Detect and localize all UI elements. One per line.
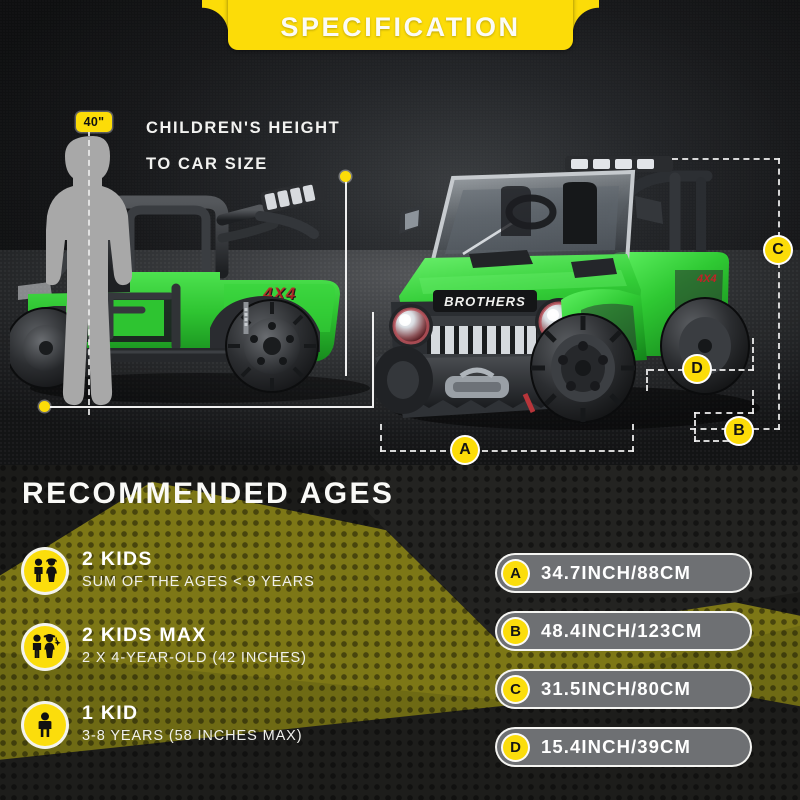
- age-row-subtitle: 3-8 YEARS (58 INCHES MAX): [82, 727, 302, 747]
- spec-section: 4X4 4X4: [0, 0, 800, 465]
- dimension-value-b: 48.4INCH/123CM: [541, 620, 702, 642]
- age-row-2-kids: 2 KIDS SUM OF THE AGES < 9 YEARS: [24, 549, 315, 592]
- caption-line-2: TO CAR SIZE: [146, 155, 268, 174]
- two-kids-max-icon: [24, 626, 66, 668]
- bracket-dot-bottom-left: [39, 401, 50, 412]
- dimension-value-d: 15.4INCH/39CM: [541, 736, 691, 758]
- age-row-subtitle: 2 X 4-YEAR-OLD (42 INCHES): [82, 649, 307, 669]
- callout-badge-b: B: [726, 418, 752, 444]
- dash-a-up-right: [632, 424, 634, 452]
- dash-a-up-left: [380, 424, 382, 452]
- dash-c-top: [672, 158, 780, 160]
- height-badge: 40": [76, 112, 112, 132]
- dash-a-left: [380, 450, 446, 452]
- svg-text:4X4: 4X4: [696, 273, 717, 285]
- dimension-pill-b: B 48.4INCH/123CM: [497, 613, 750, 649]
- banner-notch-left: [202, 0, 228, 34]
- dimension-badge-d: D: [503, 735, 528, 760]
- dash-d-right: [710, 369, 754, 371]
- bracket-dot-top: [340, 171, 351, 182]
- dimension-pill-a: A 34.7INCH/88CM: [497, 555, 750, 591]
- page-title: SPECIFICATION: [228, 12, 573, 43]
- one-kid-icon: [24, 704, 66, 746]
- dimension-badge-b: B: [503, 619, 528, 644]
- dash-b-up: [752, 390, 754, 414]
- dash-b-right: [694, 412, 754, 414]
- age-row-subtitle: SUM OF THE AGES < 9 YEARS: [82, 573, 315, 593]
- two-kids-icon: [24, 550, 66, 592]
- dimension-badge-a: A: [503, 561, 528, 586]
- dash-c-lower: [778, 262, 780, 430]
- dimension-pill-c: C 31.5INCH/80CM: [497, 671, 750, 707]
- dash-a-right: [482, 450, 634, 452]
- height-measure-line: [88, 130, 90, 415]
- caption-line-1: CHILDREN'S HEIGHT: [146, 119, 340, 138]
- dash-b-down: [694, 412, 696, 442]
- dash-d-left: [648, 369, 684, 371]
- callout-badge-a: A: [452, 437, 478, 463]
- left-bracket-vertical: [372, 312, 374, 408]
- dimension-value-a: 34.7INCH/88CM: [541, 562, 691, 584]
- dimension-pill-d: D 15.4INCH/39CM: [497, 729, 750, 765]
- dash-d-down: [646, 369, 648, 391]
- specification-infographic: 4X4 4X4: [0, 0, 800, 800]
- age-row-title: 1 KID: [82, 703, 302, 725]
- age-row-1-kid: 1 KID 3-8 YEARS (58 INCHES MAX): [24, 703, 302, 746]
- specification-banner: SPECIFICATION: [228, 0, 573, 50]
- left-bracket-pointer: [345, 176, 347, 376]
- vehicle-front-view: 4X4: [375, 150, 765, 445]
- dimension-badge-c: C: [503, 677, 528, 702]
- svg-text:BROTHERS: BROTHERS: [444, 294, 526, 309]
- ages-section-title: RECOMMENDED AGES: [22, 477, 394, 511]
- dash-c-upper: [778, 158, 780, 238]
- dimension-value-c: 31.5INCH/80CM: [541, 678, 691, 700]
- banner-notch-right: [573, 0, 599, 34]
- recommended-ages-section: RECOMMENDED AGES 2 KIDS SUM OF THE AGES …: [0, 465, 800, 800]
- dash-d-up: [752, 338, 754, 371]
- age-row-title: 2 KIDS: [82, 549, 315, 571]
- callout-badge-c: C: [765, 237, 791, 263]
- age-row-2-kids-max: 2 KIDS MAX 2 X 4-YEAR-OLD (42 INCHES): [24, 625, 307, 668]
- callout-badge-d: D: [684, 356, 710, 382]
- age-row-title: 2 KIDS MAX: [82, 625, 307, 647]
